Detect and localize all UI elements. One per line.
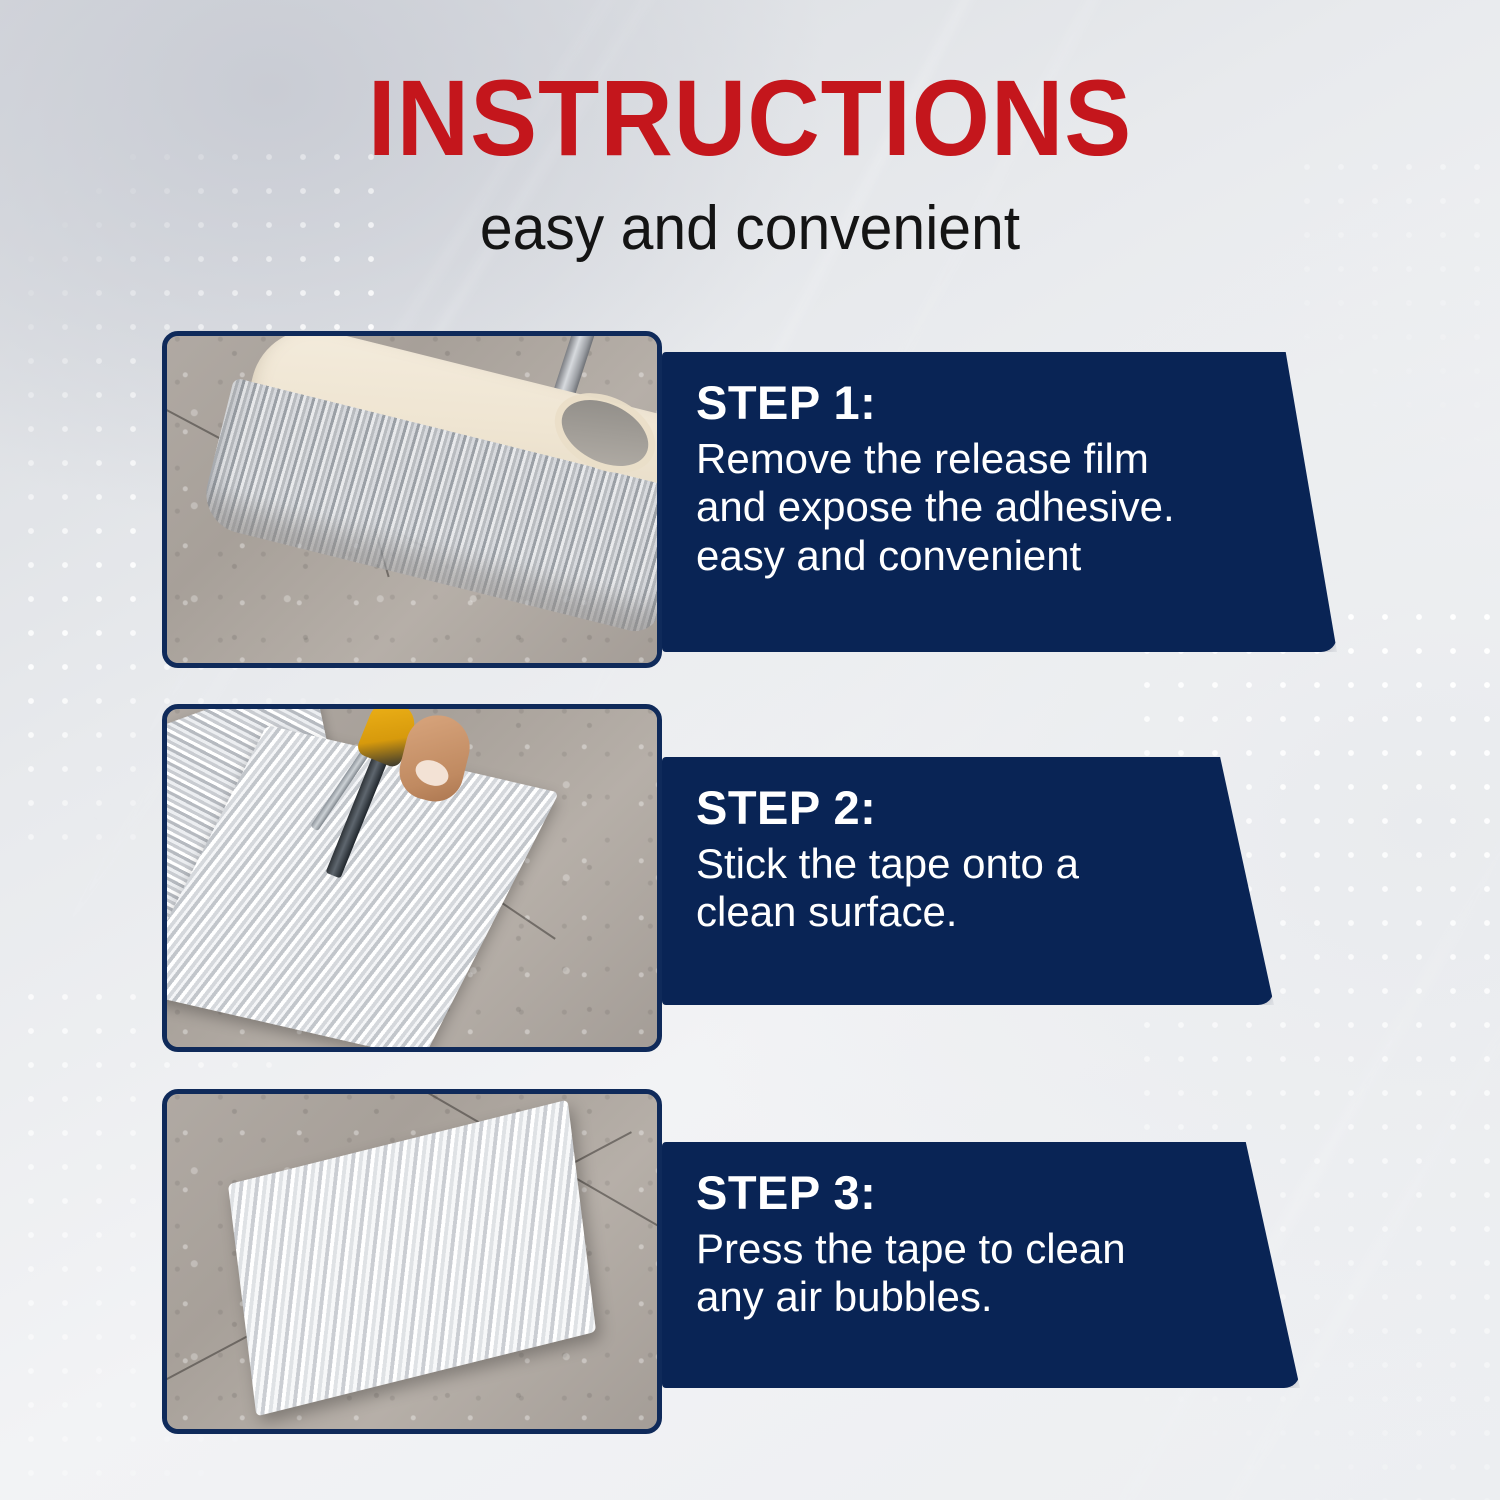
step-photo-1 [162, 331, 662, 668]
page-subtitle: easy and convenient [38, 172, 1463, 260]
step-panel-1: STEP 1: Remove the release film and expo… [662, 352, 1337, 652]
step-panel-2: STEP 2: Stick the tape onto a clean surf… [662, 757, 1274, 1005]
step-body-1: Remove the release film and expose the a… [696, 429, 1337, 581]
step-heading-3: STEP 3: [696, 1168, 1300, 1219]
step-body-3: Press the tape to clean any air bubbles. [696, 1219, 1300, 1322]
step-panel-3: STEP 3: Press the tape to clean any air … [662, 1142, 1300, 1388]
page-title: INSTRUCTIONS [53, 0, 1448, 172]
step-heading-1: STEP 1: [696, 378, 1337, 429]
step-body-2: Stick the tape onto a clean surface. [696, 834, 1274, 937]
instructions-infographic: INSTRUCTIONS easy and convenient STEP 1:… [0, 0, 1500, 1500]
step-photo-2 [162, 704, 662, 1052]
step-heading-2: STEP 2: [696, 783, 1274, 834]
step-photo-3 [162, 1089, 662, 1434]
header: INSTRUCTIONS easy and convenient [0, 0, 1500, 260]
